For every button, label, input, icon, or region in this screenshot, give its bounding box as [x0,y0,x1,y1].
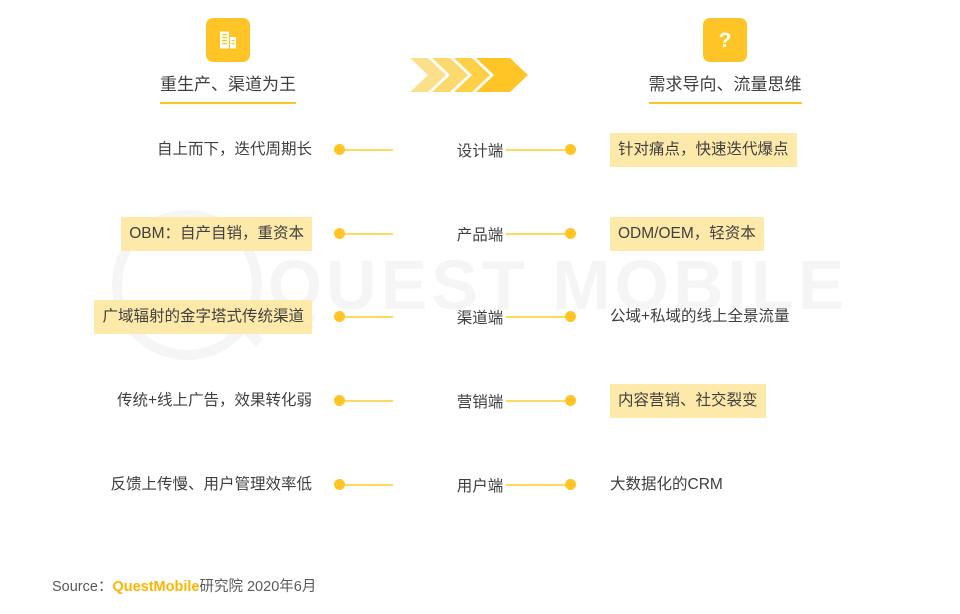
row-right-text: 大数据化的CRM [610,470,723,500]
table-row: 自上而下，迭代周期长 设计端 针对痛点，快速迭代爆点 [0,133,960,167]
table-row: 传统+线上广告，效果转化弱 营销端 内容营销、社交裂变 [0,384,960,418]
row-middle-label: 用户端 [0,474,960,496]
row-right-connector [506,149,565,151]
row-right-dot [565,228,576,239]
row-right-connector [506,316,565,318]
row-middle-label: 营销端 [0,390,960,412]
row-right-dot [565,144,576,155]
source-brand: QuestMobile [112,579,199,595]
header-right-title: 需求导向、流量思维 [649,70,802,104]
row-right-connector [506,233,565,235]
table-row: OBM：自产自销，重资本 产品端 ODM/OEM，轻资本 [0,217,960,251]
row-right-text: ODM/OEM，轻资本 [610,217,764,251]
source-rest: 研究院 2020年6月 [199,579,316,595]
header-left: 重生产、渠道为王 [78,18,378,104]
factory-icon [206,18,250,62]
row-middle-label: 渠道端 [0,306,960,328]
row-right-dot [565,311,576,322]
svg-text:?: ? [719,29,732,52]
row-right-connector [506,484,565,486]
header-left-title: 重生产、渠道为王 [160,70,296,104]
row-right-text: 内容营销、社交裂变 [610,384,766,418]
double-chevron-right-icon [410,58,530,90]
table-row: 反馈上传慢、用户管理效率低 用户端 大数据化的CRM [0,468,960,502]
infographic-page: 重生产、渠道为王 ? 需求导向、流量思维 自上而下，迭代周期长 设计端 针对痛点… [0,0,960,614]
table-row: 广域辐射的金字塔式传统渠道 渠道端 公域+私域的线上全景流量 [0,300,960,334]
row-right-text: 针对痛点，快速迭代爆点 [610,133,797,167]
header-right: ? 需求导向、流量思维 [575,18,875,104]
row-right-connector [506,400,565,402]
source-note: Source：QuestMobile研究院 2020年6月 [52,575,316,596]
row-right-dot [565,395,576,406]
row-middle-label: 设计端 [0,139,960,161]
row-middle-label: 产品端 [0,223,960,245]
row-right-text: 公域+私域的线上全景流量 [610,302,790,332]
source-label: Source： [52,579,112,595]
row-right-dot [565,479,576,490]
question-mark-icon: ? [703,18,747,62]
